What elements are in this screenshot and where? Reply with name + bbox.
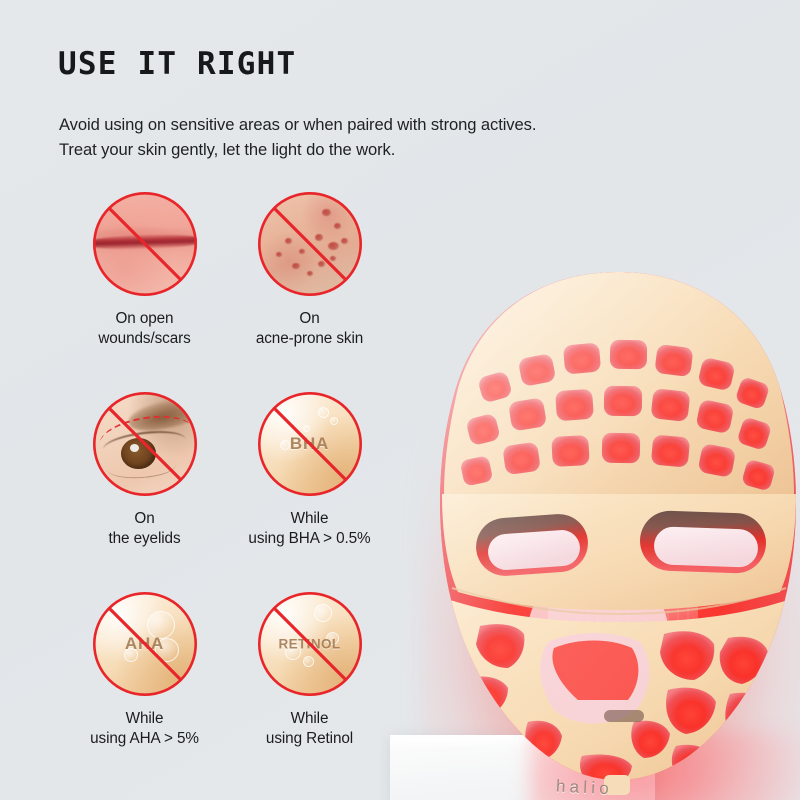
- subcopy-line-2: Treat your skin gently, let the light do…: [59, 137, 536, 162]
- mask-illustration: [428, 270, 800, 790]
- no-open-wounds-icon: [93, 192, 197, 296]
- warning-row: On open wounds/scars: [62, 192, 392, 392]
- warning-label-line-2: the eyelids: [108, 529, 180, 549]
- warning-item-retinol: RETINOL While using Retinol: [227, 592, 392, 792]
- page-subcopy: Avoid using on sensitive areas or when p…: [59, 112, 536, 162]
- warning-label: On acne-prone skin: [256, 309, 363, 349]
- warning-label: While using BHA > 0.5%: [248, 509, 370, 549]
- warning-label: On the eyelids: [108, 509, 180, 549]
- warning-label-line-1: While: [266, 709, 353, 729]
- warning-label-line-2: using AHA > 5%: [90, 729, 199, 749]
- warning-row: On the eyelids BHA: [62, 392, 392, 592]
- prohibition-slash-icon: [258, 592, 362, 696]
- warning-label-line-2: using Retinol: [266, 729, 353, 749]
- subcopy-line-1: Avoid using on sensitive areas or when p…: [59, 112, 536, 137]
- no-acne-prone-skin-icon: [258, 192, 362, 296]
- warning-label-line-1: On: [256, 309, 363, 329]
- warning-label: While using AHA > 5%: [90, 709, 199, 749]
- led-face-mask: halio: [428, 270, 800, 790]
- product-image: halio: [380, 210, 800, 800]
- no-eyelids-icon: [93, 392, 197, 496]
- page-title: USE IT RIGHT: [58, 49, 296, 80]
- no-retinol-serum-icon: RETINOL: [258, 592, 362, 696]
- no-aha-serum-icon: AHA: [93, 592, 197, 696]
- promo-page: halio USE IT RIGHT Avoid using on sensit…: [0, 0, 800, 800]
- warning-label-line-1: On open: [98, 309, 190, 329]
- no-bha-serum-icon: BHA: [258, 392, 362, 496]
- warning-label-line-2: acne-prone skin: [256, 329, 363, 349]
- warning-grid: On open wounds/scars: [62, 192, 392, 792]
- halio-brand-mark: halio: [556, 777, 614, 800]
- prohibition-slash-icon: [93, 392, 197, 496]
- warning-item-acne-prone: On acne-prone skin: [227, 192, 392, 392]
- warning-label-line-2: wounds/scars: [98, 329, 190, 349]
- prohibition-slash-icon: [258, 392, 362, 496]
- warning-label-line-2: using BHA > 0.5%: [248, 529, 370, 549]
- warning-item-aha: AHA While using AHA > 5%: [62, 592, 227, 792]
- warning-item-eyelids: On the eyelids: [62, 392, 227, 592]
- prohibition-slash-icon: [93, 192, 197, 296]
- warning-item-open-wounds: On open wounds/scars: [62, 192, 227, 392]
- warning-row: AHA While using AHA > 5%: [62, 592, 392, 792]
- warning-label-line-1: While: [248, 509, 370, 529]
- warning-label: On open wounds/scars: [98, 309, 190, 349]
- prohibition-slash-icon: [258, 192, 362, 296]
- mask-lattice-shell: [440, 272, 796, 788]
- warning-label: While using Retinol: [266, 709, 353, 749]
- warning-label-line-1: While: [90, 709, 199, 729]
- prohibition-slash-icon: [93, 592, 197, 696]
- warning-label-line-1: On: [108, 509, 180, 529]
- warning-item-bha: BHA While using BHA > 0.5%: [227, 392, 392, 592]
